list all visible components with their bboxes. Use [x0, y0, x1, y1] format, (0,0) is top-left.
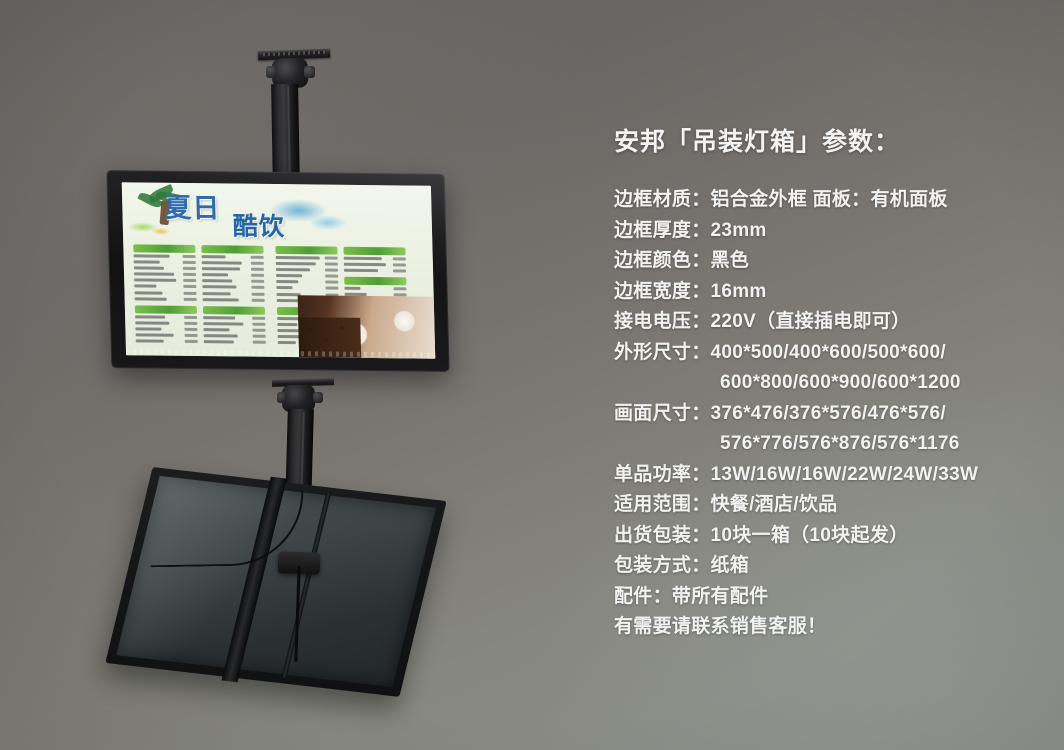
ceiling-joint-knob-right — [304, 66, 315, 78]
menu-row — [344, 257, 406, 262]
menu-row — [202, 286, 264, 291]
menu-column-2 — [201, 241, 266, 347]
menu-row — [203, 328, 265, 333]
menu-row — [202, 267, 264, 272]
menu-row — [344, 269, 406, 274]
spec-line-shipping-package: 出货包装：10块一箱（10块起发） — [614, 521, 1064, 552]
ceiling-joint-knob-left — [266, 66, 277, 78]
menu-row — [202, 261, 264, 266]
menu-section-header — [344, 277, 406, 286]
spec-line-application: 适用范围：快餐/酒店/饮品 — [614, 490, 1064, 521]
menu-row — [202, 280, 264, 285]
menu-section-header — [133, 244, 195, 253]
menu-section-header — [201, 245, 263, 254]
menu-row — [276, 262, 338, 267]
spec-line-picture-size-cont: 576*776/576*876/576*1176 — [614, 429, 1064, 460]
menu-row — [136, 333, 198, 338]
spec-panel: 安邦「吊装灯箱」参数： 边框材质：铝合金外框 面板：有机面板边框厚度：23mm边… — [609, 0, 1064, 750]
spec-line-accessories: 配件：带所有配件 — [614, 582, 1064, 613]
spec-line-outer-size: 外形尺寸：400*500/400*600/500*600/ — [614, 338, 1064, 369]
menu-row — [276, 286, 338, 291]
menu-section-header — [135, 305, 197, 314]
menu-section-header — [343, 247, 405, 256]
menu-row — [202, 255, 264, 260]
spec-line-frame-width: 边框宽度：16mm — [614, 277, 1064, 308]
menu-row — [203, 298, 265, 303]
menu-row — [204, 334, 266, 339]
spec-line-list: 边框材质：铝合金外框 面板：有机面板边框厚度：23mm边框颜色：黑色边框宽度：1… — [614, 185, 1064, 643]
menu-row — [134, 285, 196, 290]
menu-row — [202, 292, 264, 297]
menu-row — [203, 316, 265, 321]
menu-row — [134, 291, 196, 296]
menu-row — [276, 256, 338, 261]
menu-section-header — [203, 306, 265, 315]
menu-row — [135, 321, 197, 326]
menu-row — [136, 339, 198, 344]
poster-title: 夏日 酷饮 — [158, 193, 349, 247]
menu-row — [276, 274, 338, 279]
menu-row — [135, 327, 197, 332]
menu-row — [276, 268, 338, 273]
menu-section-header — [275, 246, 337, 255]
menu-row — [134, 279, 196, 284]
menu-row — [135, 315, 197, 320]
spec-line-voltage: 接电电压：220V（直接插电即可） — [614, 307, 1064, 338]
menu-row — [134, 273, 196, 278]
spec-line-power: 单品功率：13W/16W/16W/22W/24W/33W — [614, 460, 1064, 491]
menu-row — [203, 322, 265, 327]
spec-line-frame-color: 边框颜色：黑色 — [614, 246, 1064, 277]
spec-line-package-method: 包装方式：纸箱 — [614, 551, 1064, 582]
lightbox-screen: 夏日 酷饮 — [122, 182, 436, 358]
product-photo: 夏日 酷饮 — [0, 0, 600, 750]
menu-row — [344, 287, 406, 292]
menu-row — [202, 273, 264, 278]
menu-row — [134, 267, 196, 272]
poster-title-line1: 夏日 — [164, 195, 221, 223]
menu-poster: 夏日 酷饮 — [122, 182, 436, 358]
lower-joint-knob-left — [277, 392, 287, 403]
spec-line-contact: 有需要请联系销售客服！ — [614, 612, 1064, 643]
spec-title: 安邦「吊装灯箱」参数： — [614, 130, 900, 155]
spec-line-picture-size: 画面尺寸：376*476/376*576/476*576/ — [614, 399, 1064, 430]
poster-title-line2: 酷饮 — [233, 214, 286, 240]
lightbox-front-frame: 夏日 酷饮 — [106, 170, 449, 372]
coffee-photo — [298, 295, 436, 359]
product-spec-image: 夏日 酷饮 — [0, 0, 1064, 750]
spec-line-frame-thickness: 边框厚度：23mm — [614, 216, 1064, 247]
spec-line-frame-material: 边框材质：铝合金外框 面板：有机面板 — [614, 185, 1064, 216]
menu-row — [204, 340, 266, 345]
menu-row — [134, 254, 196, 259]
menu-row — [134, 260, 196, 265]
menu-row — [135, 297, 197, 302]
lower-joint-knob-right — [313, 392, 323, 403]
menu-row — [344, 263, 406, 268]
menu-row — [276, 280, 338, 285]
spec-line-outer-size-cont: 600*800/600*900/600*1200 — [614, 368, 1064, 399]
menu-column-1 — [133, 240, 198, 346]
